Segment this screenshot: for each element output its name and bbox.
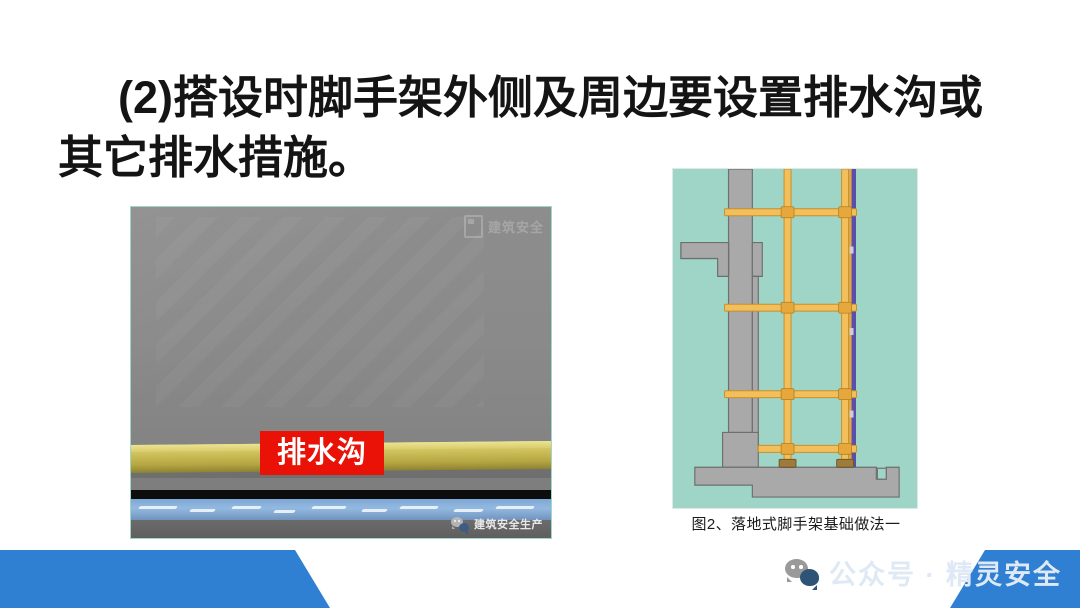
photo-watermark-bottom-right: 建筑安全生产 [451,516,543,532]
drainage-ditch-photo: 排水沟 建筑安全 建筑安全生产 [131,207,551,538]
diagram-background [673,169,917,508]
photo-watermark-top-right-text: 建筑安全 [488,217,544,236]
book-logo-icon [464,215,483,238]
footer-banner-left-shape [0,550,330,608]
footer-brand-text: 公众号 · 精灵安全 [829,553,1062,592]
wechat-icon [785,559,819,586]
footing-notch [877,468,886,479]
scaffold-foundation-drawing [672,168,918,509]
drainage-ditch-label: 排水沟 [260,431,384,475]
scaffold-foundation-diagram: 图2、落地式脚手架基础做法一 [672,168,918,509]
footer-brand: 公众号 · 精灵安全 [785,553,1062,592]
photo-ditch-edge [131,490,551,499]
diagram-caption: 图2、落地式脚手架基础做法一 [668,513,924,534]
photo-watermark-top-right: 建筑安全 [464,215,544,238]
photo-wall [131,207,551,457]
wechat-icon [451,517,469,532]
photo-watermark-bottom-right-text: 建筑安全生产 [474,516,543,532]
